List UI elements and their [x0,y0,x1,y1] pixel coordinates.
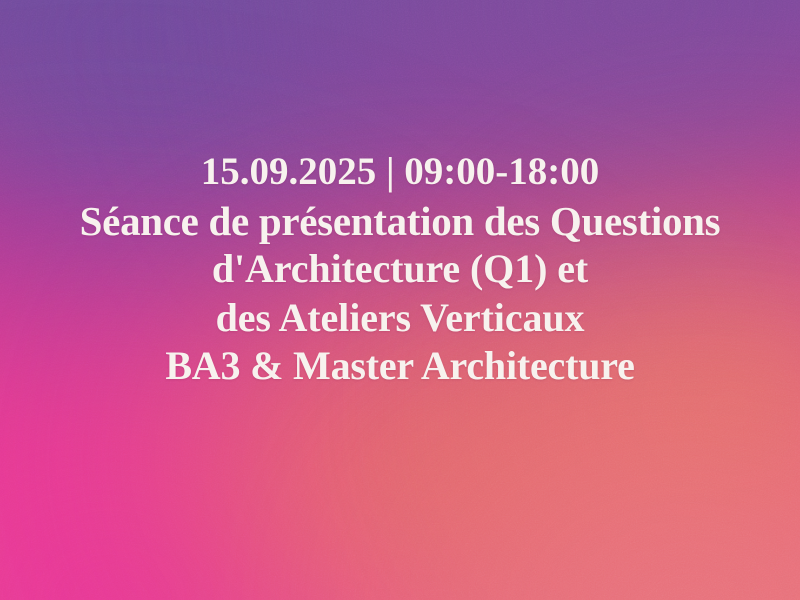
poster-line-title-3: des Ateliers Verticaux [6,294,794,343]
poster-text-block: 15.09.2025 | 09:00-18:00 Séance de prése… [0,148,800,391]
poster-canvas: 15.09.2025 | 09:00-18:00 Séance de prése… [0,0,800,600]
poster-line-audience: BA3 & Master Architecture [6,342,794,391]
poster-line-title-2: d'Architecture (Q1) et [6,245,794,294]
poster-line-title-1: Séance de présentation des Questions [6,197,794,246]
poster-line-datetime: 15.09.2025 | 09:00-18:00 [6,148,794,197]
